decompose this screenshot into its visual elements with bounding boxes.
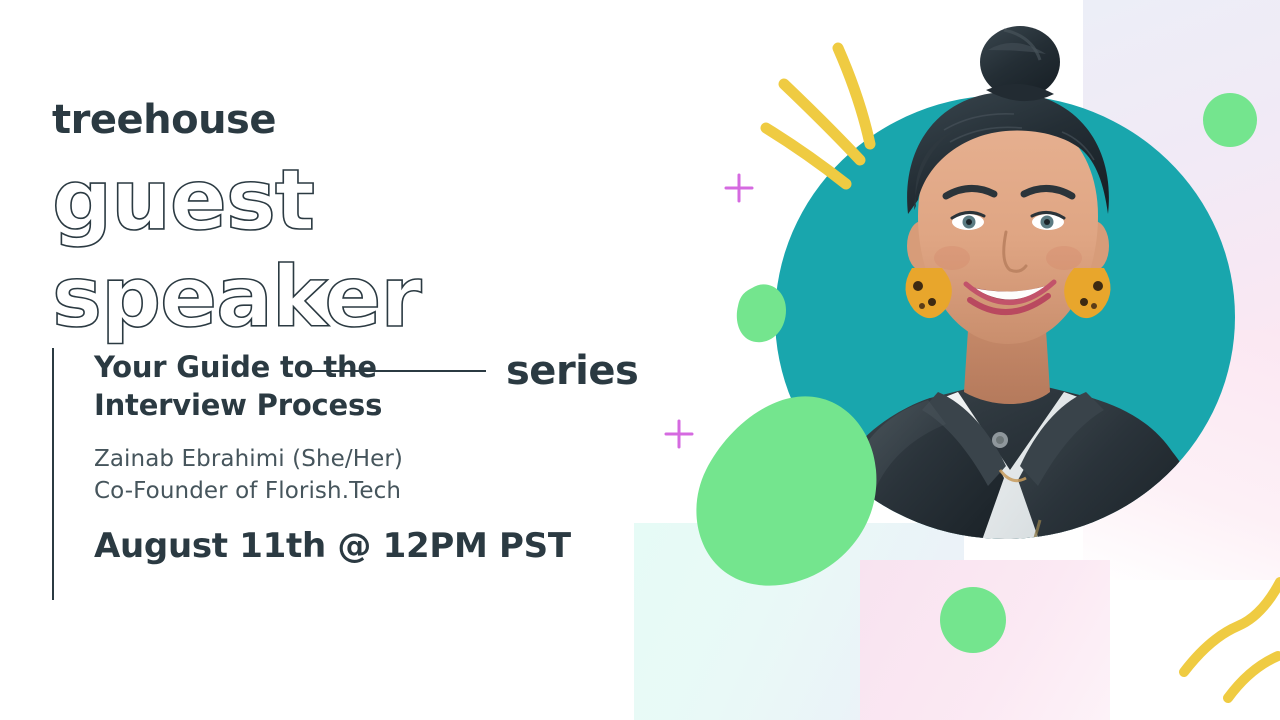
brand-name: treehouse xyxy=(52,100,652,140)
yellow-sparkle-strokes xyxy=(766,48,870,184)
speaker-role: Co-Founder of Florish.Tech xyxy=(94,475,652,508)
slide-canvas: treehouse guest speaker series Your Guid… xyxy=(0,0,1280,720)
talk-title: Your Guide to the Interview Process xyxy=(94,348,652,425)
headline-outline: guest speaker xyxy=(52,152,652,345)
talk-title-line-1: Your Guide to the xyxy=(94,348,652,386)
talk-title-line-2: Interview Process xyxy=(94,386,652,424)
magenta-plus-middle xyxy=(666,421,692,447)
speaker-name: Zainab Ebrahimi (She/Her) xyxy=(94,443,652,476)
event-datetime: August 11th @ 12PM PST xyxy=(94,528,652,565)
event-details: Your Guide to the Interview Process Zain… xyxy=(52,348,652,600)
yellow-squiggle-strokes xyxy=(1184,582,1280,698)
magenta-plus-top xyxy=(726,175,752,201)
